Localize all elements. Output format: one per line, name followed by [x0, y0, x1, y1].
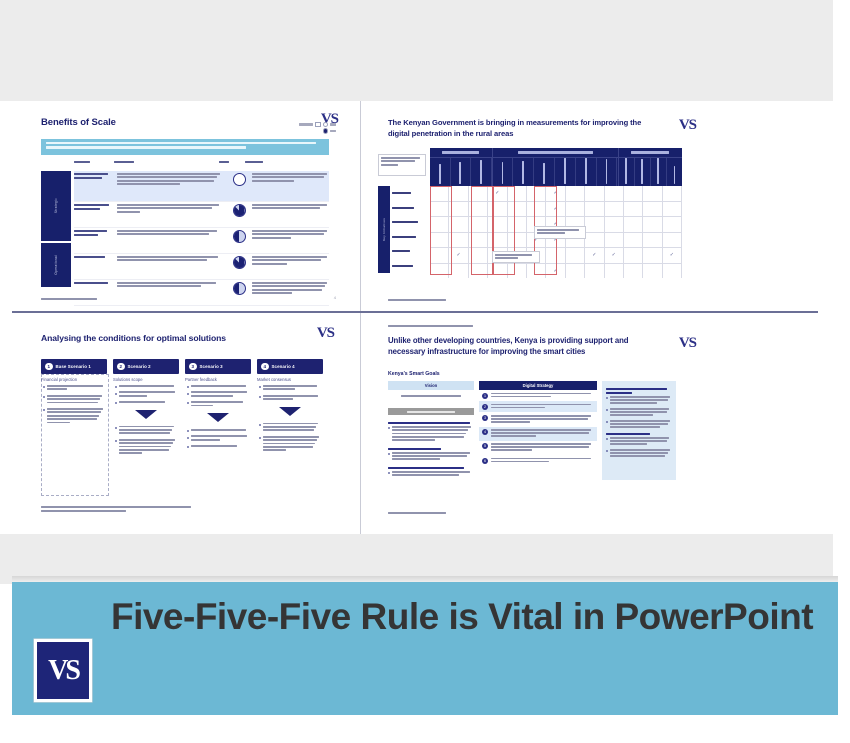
- toggle-label-yes: [330, 123, 336, 126]
- table-row[interactable]: [74, 254, 329, 280]
- slide3-footnote: [41, 506, 201, 513]
- col-header-category: [74, 161, 90, 163]
- sub-heading: [606, 388, 672, 394]
- list-item: [115, 439, 177, 456]
- slide4-grid: Vision Digital Strategy 1: [388, 381, 676, 480]
- top-gray-backdrop: [0, 0, 833, 101]
- list-item[interactable]: 2: [479, 401, 597, 412]
- scenario-column-2[interactable]: 2 Scenario 2 Solutions scope: [113, 359, 179, 459]
- slide1-callout-bar: [41, 139, 329, 155]
- scenario-badge-3: 3: [189, 363, 197, 371]
- item-number-icon: 4: [482, 429, 488, 435]
- col-header-value: [219, 161, 229, 163]
- matrix-axis-text: Key Initiatives: [382, 218, 386, 241]
- slide-kenyan-government-measurements[interactable]: The Kenyan Government is bringing in mea…: [376, 107, 706, 307]
- matrix-callout: [492, 251, 540, 263]
- list-item[interactable]: 5: [479, 441, 597, 455]
- slide4-footer-note: [388, 512, 446, 514]
- vs-brand-mark: VS: [679, 117, 696, 134]
- matrix-row-axis-label: Key Initiatives: [378, 186, 390, 273]
- slide4-column-outcomes: [602, 381, 676, 480]
- toggle-label-legend: [299, 123, 313, 126]
- matrix-group-agent-delivery: [619, 148, 682, 186]
- list-item: [187, 429, 249, 432]
- scenario-subtitle-1: Financial projection: [41, 377, 107, 382]
- table-row[interactable]: [74, 171, 329, 202]
- harvey-ball-icon: [233, 173, 246, 186]
- list-item: [259, 395, 321, 402]
- scenario-subtitle-4: Market consensus: [257, 377, 323, 382]
- list-item: [187, 445, 249, 448]
- sub-heading: [388, 448, 474, 450]
- list-item[interactable]: 1: [479, 390, 597, 401]
- banner-headline: Five-Five-Five Rule is Vital in PowerPoi…: [102, 594, 822, 639]
- vs-brand-mark: VS: [679, 335, 696, 352]
- list-item: [187, 435, 249, 442]
- slide4-column-digital-strategy: Digital Strategy 1 2 3 4: [479, 381, 597, 480]
- scenario-header-2[interactable]: 2 Scenario 2: [113, 359, 179, 374]
- list-item: [259, 436, 321, 453]
- list-item: [187, 401, 249, 408]
- matrix-group-strategy-assessment: [493, 148, 619, 186]
- list-item[interactable]: 6: [479, 455, 597, 466]
- item-number-icon: 3: [482, 415, 488, 421]
- column-gray-bar: [388, 408, 474, 415]
- matrix-row-label: [392, 259, 428, 274]
- list-item: [115, 401, 177, 404]
- deck-row-divider: [12, 311, 818, 313]
- slide4-column-vision: Vision: [388, 381, 474, 480]
- scenario-badge-1: 1: [45, 363, 53, 371]
- matrix-highlight-box: [430, 186, 452, 275]
- slide1-page-number: 4: [334, 295, 336, 300]
- scenario-column-3[interactable]: 3 Scenario 3 Partner feedback: [185, 359, 251, 459]
- matrix-check-cell[interactable]: ✓: [449, 248, 468, 263]
- slide3-title: Analysing the conditions for optimal sol…: [41, 333, 226, 343]
- toggle-label-no: [330, 130, 336, 133]
- list-item: [43, 408, 105, 425]
- scenario-subtitle-2: Solutions scope: [113, 377, 179, 382]
- list-item[interactable]: 4: [479, 427, 597, 441]
- matrix-highlight-box: [471, 186, 494, 275]
- col-header-description: [114, 161, 134, 163]
- matrix-row-label: [392, 230, 428, 245]
- slide1-category-blocks: Strategic Operational: [41, 171, 71, 287]
- col-header-comment: [245, 161, 263, 163]
- list-item: [388, 452, 474, 462]
- scenario-header-3[interactable]: 3 Scenario 3: [185, 359, 251, 374]
- item-number-icon: 5: [482, 443, 488, 449]
- matrix-row-label: [392, 201, 428, 216]
- list-item: [259, 423, 321, 433]
- category-block-strategic-label: Strategic: [54, 198, 58, 213]
- vs-logo-square: VS: [37, 642, 89, 699]
- list-item: [606, 420, 672, 430]
- slide4-eyebrow: [388, 325, 473, 329]
- list-item: [187, 385, 249, 388]
- slide1-title: Benefits of Scale: [41, 117, 116, 128]
- scenario-name-4: Scenario 4: [272, 364, 295, 369]
- matrix-check-cell[interactable]: ✓: [585, 248, 604, 263]
- list-item: [187, 391, 249, 398]
- table-row[interactable]: [74, 306, 329, 307]
- list-item: [606, 396, 672, 406]
- vs-logo-monogram: VS: [48, 657, 78, 685]
- slide1-table: Strategic Operational: [41, 161, 329, 287]
- list-item: [388, 426, 474, 442]
- list-item: [259, 385, 321, 392]
- matrix-check-cell[interactable]: ✓: [605, 248, 624, 263]
- column-header-vision: Vision: [388, 381, 474, 390]
- scenario-header-4[interactable]: 4 Scenario 4: [257, 359, 323, 374]
- matrix-check-cell[interactable]: ✓: [663, 248, 682, 263]
- item-number-icon: 1: [482, 393, 488, 399]
- scenario-column-1[interactable]: 1 Base Scenario 1 Financial projection: [41, 359, 107, 459]
- sub-heading: [388, 422, 474, 424]
- slide-deck-sheet: Benefits of Scale VS: [12, 101, 833, 534]
- list-item: [115, 391, 177, 398]
- slide2-matrix: Key Initiatives: [430, 148, 682, 273]
- matrix-row-labels: [392, 186, 428, 273]
- slide-kenya-smart-cities[interactable]: Unlike other developing countries, Kenya…: [376, 319, 706, 524]
- slide2-title: The Kenyan Government is bringing in mea…: [388, 117, 643, 139]
- bottom-banner: Five-Five-Five Rule is Vital in PowerPoi…: [12, 582, 838, 715]
- slide1-legend-toggle[interactable]: [262, 122, 336, 135]
- list-item: [388, 471, 474, 477]
- checkbox-icon[interactable]: [315, 122, 321, 128]
- toggle-row-checkbox[interactable]: [262, 122, 336, 127]
- scenario-name-1: Base Scenario 1: [56, 364, 91, 369]
- scenario-badge-2: 2: [117, 363, 125, 371]
- scenario-subtitle-3: Partner feedback: [185, 377, 251, 382]
- list-item: [606, 449, 672, 459]
- slide-analysing-conditions[interactable]: Analysing the conditions for optimal sol…: [16, 319, 346, 524]
- radio-yes-icon[interactable]: [323, 122, 329, 128]
- item-number-icon: 6: [482, 458, 488, 464]
- list-item: [43, 385, 105, 392]
- harvey-ball-icon: [233, 282, 246, 295]
- harvey-ball-icon: [233, 204, 246, 217]
- down-arrow-icon: [207, 413, 229, 422]
- slide1-table-body: [74, 171, 329, 307]
- harvey-ball-icon: [233, 256, 246, 269]
- vs-logo[interactable]: VS: [34, 639, 92, 702]
- column-header-digital-strategy: Digital Strategy: [479, 381, 597, 390]
- scenario-header-1[interactable]: 1 Base Scenario 1: [41, 359, 107, 374]
- sub-heading: [606, 433, 672, 435]
- matrix-row-label: [392, 244, 428, 259]
- down-arrow-icon: [279, 407, 301, 416]
- column-note: [388, 393, 474, 399]
- slide1-footer-note: [41, 298, 97, 300]
- item-number-icon: 2: [482, 404, 488, 410]
- list-item: [115, 426, 177, 436]
- deck-column-divider: [360, 101, 361, 534]
- radio-no-icon-selected[interactable]: [323, 128, 329, 134]
- matrix-group-agent-economy: [430, 148, 493, 186]
- down-arrow-icon: [135, 410, 157, 419]
- table-row[interactable]: [74, 202, 329, 228]
- vs-brand-mark: VS: [317, 325, 334, 342]
- scenario-badge-4: 4: [261, 363, 269, 371]
- table-row[interactable]: [74, 228, 329, 254]
- slide3-scenario-columns: 1 Base Scenario 1 Financial projection 2…: [41, 359, 329, 459]
- category-block-operational: Operational: [41, 243, 71, 287]
- scenario-name-3: Scenario 3: [200, 364, 223, 369]
- list-item: [606, 408, 672, 418]
- toggle-row-radio[interactable]: [262, 129, 336, 134]
- scenario-column-4[interactable]: 4 Scenario 4 Market consensus: [257, 359, 323, 459]
- page-root: Benefits of Scale VS: [0, 0, 850, 743]
- slide2-footer-note: [388, 299, 446, 301]
- scenario-name-2: Scenario 2: [128, 364, 151, 369]
- slide4-title: Unlike other developing countries, Kenya…: [388, 335, 646, 358]
- table-row[interactable]: [74, 280, 329, 306]
- matrix-corner-label: [378, 154, 426, 176]
- harvey-ball-icon: [233, 230, 246, 243]
- sub-heading: [388, 467, 474, 469]
- slide1-table-header-row: [41, 161, 329, 168]
- matrix-row-label: [392, 186, 428, 201]
- list-item: [606, 437, 672, 447]
- list-item[interactable]: 3: [479, 412, 597, 426]
- slide-benefits-of-scale[interactable]: Benefits of Scale VS: [16, 107, 346, 307]
- matrix-row-label: [392, 215, 428, 230]
- category-block-operational-label: Operational: [54, 255, 58, 275]
- category-block-strategic: Strategic: [41, 171, 71, 241]
- list-item: [115, 385, 177, 388]
- slide4-section-label: Kenya's Smart Goals: [388, 371, 440, 377]
- matrix-header: [430, 148, 682, 186]
- list-item: [43, 395, 105, 405]
- matrix-callout: [534, 226, 586, 239]
